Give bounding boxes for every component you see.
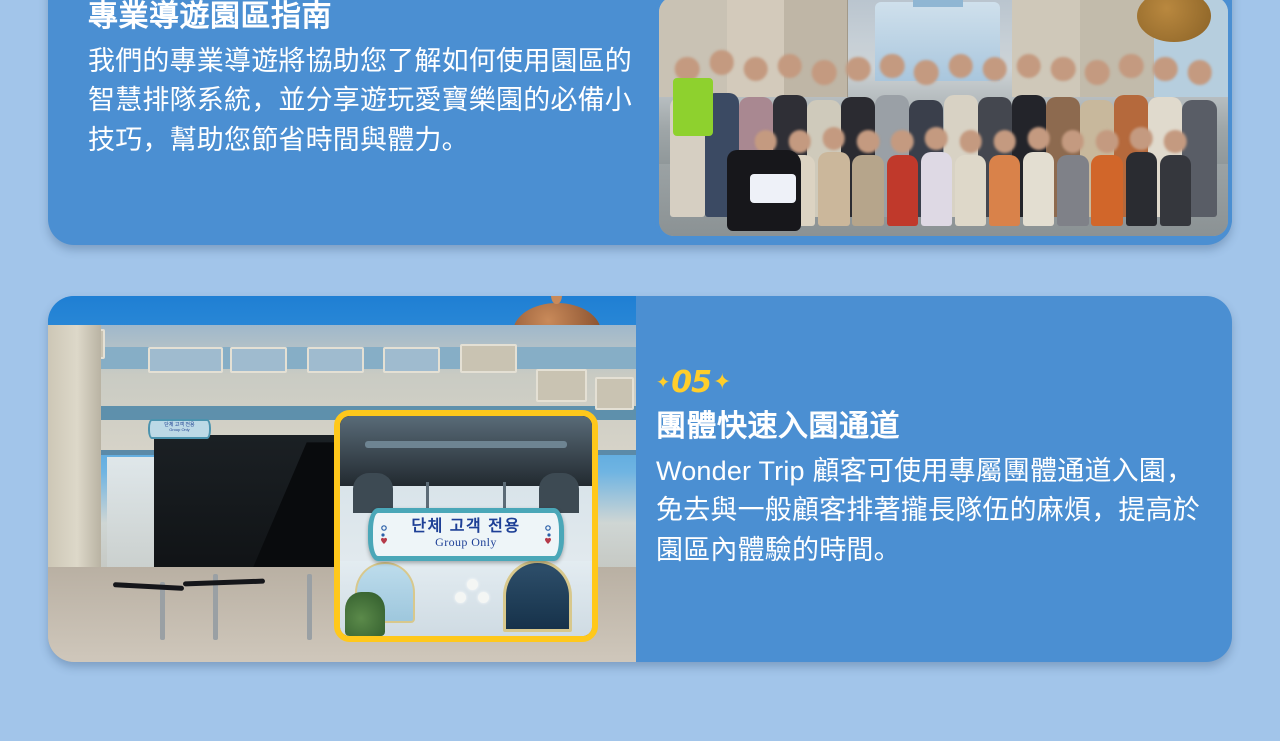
person-figure [852, 155, 883, 227]
guide-title: 專業導遊園區指南 [88, 0, 633, 36]
sign-ornament-left [378, 524, 390, 546]
person-figure [1160, 155, 1191, 227]
sparkle-icon: ✦ [713, 372, 730, 394]
person-figure [1091, 155, 1122, 227]
building-shape [784, 0, 848, 97]
person-figure [921, 152, 952, 226]
facade-panel [383, 347, 440, 373]
step-number-badge: ✦ 05 ✦ [656, 368, 1201, 398]
person-figure [1057, 155, 1088, 227]
guide-body-text: 我們的專業導遊將協助您了解如何使用園區的智慧排隊系統，並分享遊玩愛寶樂園的必備小… [88, 42, 633, 162]
fastlane-text-block: ✦ 05 ✦ 團體快速入園通道 Wonder Trip 顧客可使用專屬團體通道入… [656, 368, 1201, 571]
inset-arch-window [503, 560, 572, 632]
sign-text-english: Group Only [435, 535, 497, 550]
facade-panel [148, 347, 223, 373]
building-shape [1012, 0, 1081, 97]
guide-text-block: 專業導遊園區指南 我們的專業導遊將協助您了解如何使用園區的智慧排隊系統，並分享遊… [88, 0, 633, 161]
sign-ornament-right [542, 524, 554, 546]
far-sign-english: Group Only [150, 428, 209, 432]
facade-panel [536, 369, 587, 402]
baby-blanket [750, 174, 796, 203]
person-figure [1126, 152, 1157, 226]
person-figure [818, 152, 849, 226]
facade-panel [307, 347, 364, 373]
sign-text-korean: 단체 고객 전용 [411, 519, 520, 535]
building-shape [727, 0, 785, 97]
page-root: 專業導遊園區指南 我們的專業導遊將協助您了解如何使用園區的智慧排隊系統，並分享遊… [0, 0, 1280, 741]
inset-plant [345, 592, 385, 636]
step-number: 05 [671, 368, 711, 398]
person-figure [1023, 152, 1054, 226]
inset-arch-left [353, 473, 393, 513]
group-photo [659, 0, 1228, 236]
queue-post [160, 582, 165, 641]
facade-panel [230, 347, 287, 373]
card-group-fast-entry: 단체 고객 전용 Group Only [48, 296, 1232, 662]
inset-arch-right [539, 473, 579, 513]
group-photo-frame [655, 0, 1232, 240]
person-figure [887, 155, 918, 227]
group-only-gate-photo: 단체 고객 전용 Group Only [48, 296, 636, 662]
sparkle-icon: ✦ [656, 375, 669, 392]
queue-post [307, 574, 312, 640]
group-only-sign-zoom: 단체 고객 전용 Group Only [334, 410, 598, 642]
fastlane-title: 團體快速入園通道 [656, 408, 1201, 446]
facade-panel [460, 344, 517, 374]
green-bag [673, 78, 713, 135]
facade-panel [595, 377, 634, 410]
person-figure [989, 155, 1020, 227]
person-figure [955, 155, 986, 227]
far-group-only-sign: 단체 고객 전용 Group Only [148, 419, 211, 439]
inset-street-lamp [451, 574, 491, 631]
fastlane-body-text: Wonder Trip 顧客可使用專屬團體通道入園，免去與一般顧客排著攏長隊伍的… [656, 452, 1201, 572]
group-only-sign: 단체 고객 전용 Group Only [368, 508, 565, 561]
card-professional-guide: 專業導遊園區指南 我們的專業導遊將協助您了解如何使用園區的智慧排隊系統，並分享遊… [48, 0, 1232, 245]
